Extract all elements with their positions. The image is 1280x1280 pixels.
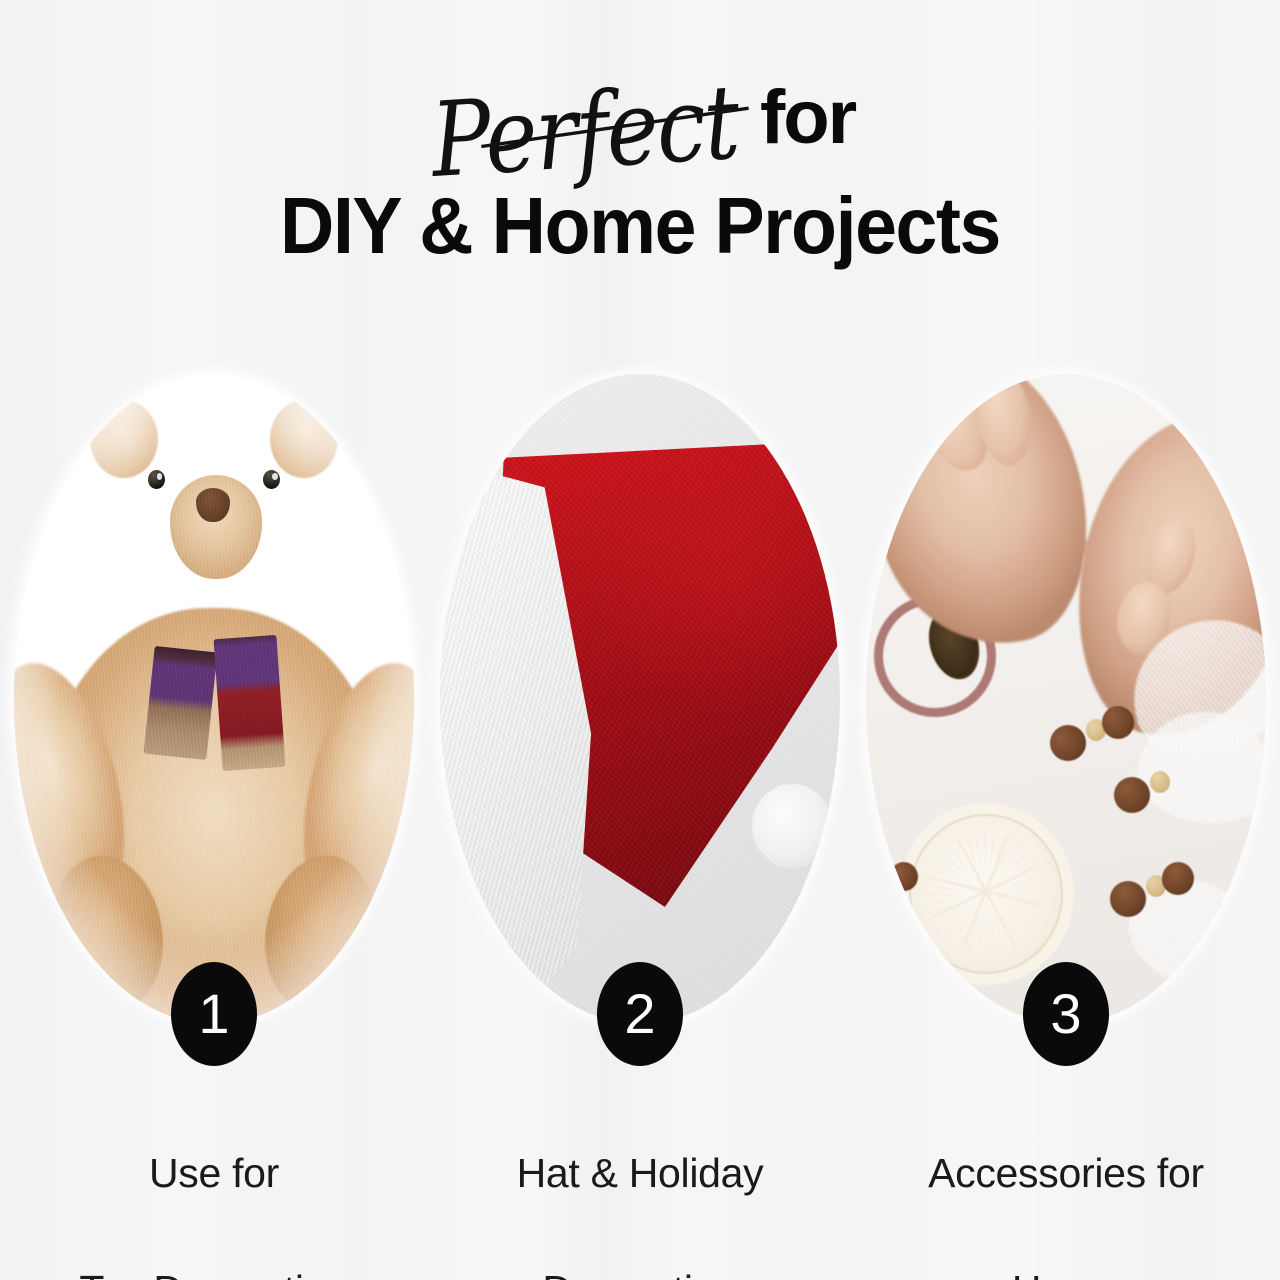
caption-line-2: Decoration bbox=[410, 1261, 870, 1280]
card-image-teddy-bear bbox=[14, 374, 414, 1024]
bead-5 bbox=[1150, 771, 1170, 793]
step-number: 2 bbox=[624, 986, 655, 1042]
caption-line-2: Toy Decoration bbox=[0, 1261, 444, 1280]
feature-card-2: 2 Hat & Holiday Decoration bbox=[440, 374, 840, 1024]
santa-hat-illustration bbox=[440, 374, 840, 1024]
craft-illustration bbox=[866, 374, 1266, 1024]
card-image-santa-hat bbox=[440, 374, 840, 1024]
caption-line-1: Accessories for bbox=[836, 1144, 1280, 1202]
web-line-2 bbox=[932, 864, 1041, 919]
feature-card-list: 1 Use for Toy Decoration 2 bbox=[0, 0, 1280, 1280]
caption-line-2: Home bbox=[836, 1261, 1280, 1280]
step-number: 3 bbox=[1050, 986, 1081, 1042]
card-caption-2: Hat & Holiday Decoration bbox=[410, 1086, 870, 1280]
step-badge-1: 1 bbox=[171, 962, 257, 1066]
web-line-4 bbox=[962, 836, 1010, 948]
macrame-dreamcatcher bbox=[898, 803, 1074, 985]
white-vignette bbox=[14, 374, 414, 1024]
step-badge-2: 2 bbox=[597, 962, 683, 1066]
promo-banner: Perfectfor DIY & Home Projects bbox=[0, 0, 1280, 1280]
fabric-texture-overlay bbox=[440, 374, 840, 1024]
web-line-3 bbox=[957, 838, 1016, 945]
feature-card-3: 3 Accessories for Home bbox=[866, 374, 1266, 1024]
step-badge-3: 3 bbox=[1023, 962, 1109, 1066]
card-caption-3: Accessories for Home bbox=[836, 1086, 1280, 1280]
step-number: 1 bbox=[198, 986, 229, 1042]
web-line-1 bbox=[928, 876, 1045, 908]
caption-line-1: Use for bbox=[0, 1144, 444, 1202]
card-caption-1: Use for Toy Decoration bbox=[0, 1086, 444, 1280]
feature-card-1: 1 Use for Toy Decoration bbox=[14, 374, 414, 1024]
teddy-bear-illustration bbox=[14, 374, 414, 1024]
caption-line-1: Hat & Holiday bbox=[410, 1144, 870, 1202]
card-image-craft-accessories bbox=[866, 374, 1266, 1024]
